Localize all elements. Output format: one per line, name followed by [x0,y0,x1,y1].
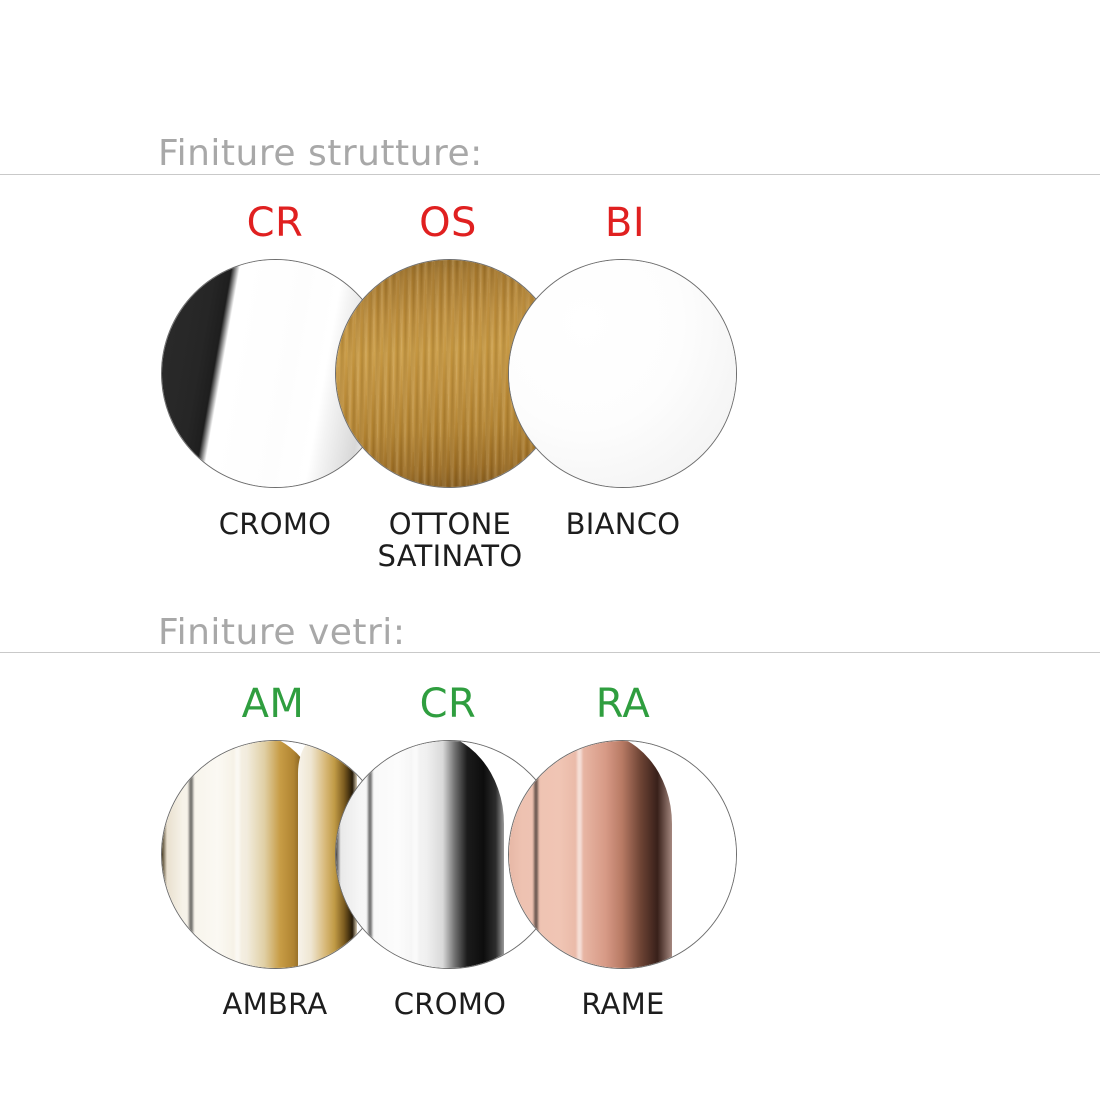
finish-code-os-struttura[interactable]: OS [368,200,528,246]
section-title-strutture: Finiture strutture: [158,133,483,174]
finish-code-cr-vetro[interactable]: CR [368,681,528,727]
chrome-glass-body [335,740,504,969]
white-finish-texture [508,259,737,488]
copper-glass-scene [509,741,736,968]
swatch-disc-bianco[interactable] [508,259,737,488]
finish-code-am-vetro[interactable]: AM [193,681,353,727]
glass-highlight [235,741,240,968]
swatch-disc-rame-vetro[interactable] [508,740,737,969]
section-title-vetri: Finiture vetri: [158,612,405,653]
glass-shadow-line [534,741,538,968]
finish-code-ra-vetro[interactable]: RA [543,681,703,727]
swatch-label-rame: RAME [503,988,743,1020]
section-divider-strutture [0,174,1100,175]
glass-shadow-line [189,741,193,968]
glass-shadow-line [368,741,372,968]
section-divider-vetri [0,652,1100,653]
finish-code-bi-struttura[interactable]: BI [545,200,705,246]
finish-code-cr-struttura[interactable]: CR [195,200,355,246]
swatch-label-bianco: BIANCO [503,508,743,540]
copper-glass-body [508,740,672,969]
glass-highlight [413,741,418,968]
finishes-page: Finiture strutture: CR OS BI CROMO OTTON… [0,0,1100,1100]
glass-highlight [577,741,582,968]
